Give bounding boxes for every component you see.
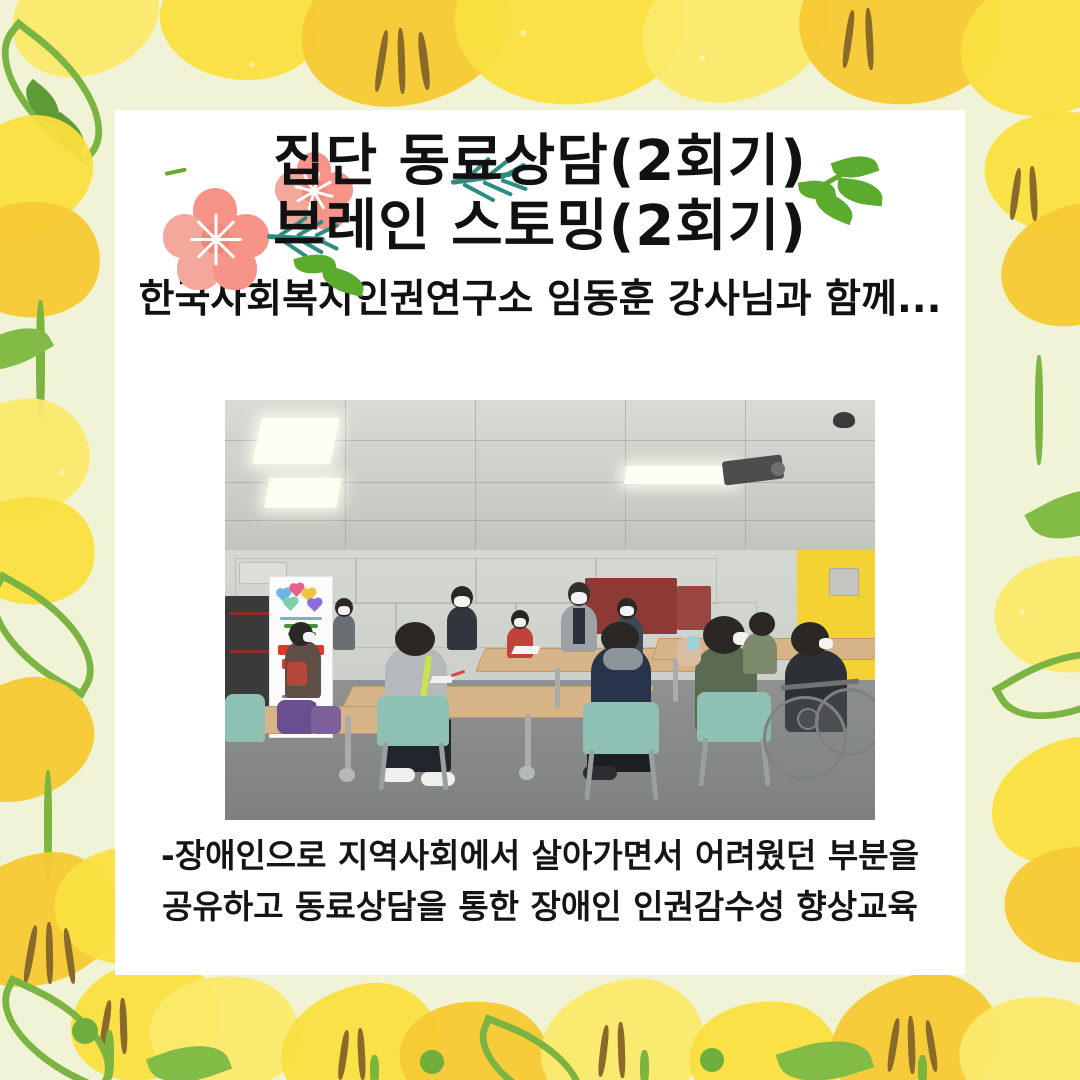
meeting-chair xyxy=(225,694,265,742)
table-leg xyxy=(345,716,351,772)
meeting-chair xyxy=(377,696,449,746)
participant xyxy=(333,614,355,650)
face-mask xyxy=(514,618,526,627)
instructor-inner-shirt xyxy=(573,608,585,644)
ceiling-light-panel xyxy=(624,466,736,484)
face-mask xyxy=(819,638,833,649)
face-mask xyxy=(620,606,634,616)
drink-cup xyxy=(687,636,699,650)
table-caster xyxy=(519,766,535,780)
paper-speck xyxy=(60,470,65,475)
face-mask xyxy=(571,592,587,604)
event-photo xyxy=(225,400,875,820)
border-stem xyxy=(1035,355,1043,465)
border-stem xyxy=(918,1055,927,1080)
heart-icon xyxy=(308,599,321,612)
participant-head xyxy=(395,622,435,656)
caption-block: -장애인으로 지역사회에서 살아가면서 어려웠던 부분을 공유하고 동료상담을 … xyxy=(115,830,965,932)
ceiling-grid-line xyxy=(475,400,476,550)
paper-speck xyxy=(1020,610,1025,615)
table-caster xyxy=(339,768,355,782)
participant-hood xyxy=(603,648,643,670)
ceiling-dome-detector xyxy=(833,412,855,428)
face-mask xyxy=(338,606,350,615)
border-bud xyxy=(72,1018,98,1044)
heart-icon xyxy=(284,598,297,611)
ceiling-grid-line xyxy=(345,400,346,550)
border-petal xyxy=(0,666,106,815)
border-bud xyxy=(420,1050,444,1074)
title-line-1: 집단 동료상담(2회기) xyxy=(115,130,965,195)
participant-scarf xyxy=(287,662,307,686)
table-leg xyxy=(525,714,531,770)
meeting-chair xyxy=(583,702,659,754)
meeting-chair xyxy=(697,692,771,742)
table-leg xyxy=(673,658,678,702)
table-leg xyxy=(555,668,560,708)
face-mask xyxy=(454,596,470,607)
paper-speck xyxy=(250,62,255,67)
border-leaf xyxy=(0,313,54,386)
title-line-2: 브레인 스토밍(2회기) xyxy=(115,195,965,260)
paper-speck xyxy=(700,55,705,60)
ceiling-light-panel xyxy=(252,418,340,464)
participant-head xyxy=(749,612,775,636)
border-leaf xyxy=(1024,471,1080,558)
border-stem xyxy=(640,1050,649,1080)
border-petal xyxy=(0,187,111,332)
border-bud xyxy=(700,1048,724,1072)
backpack xyxy=(311,706,341,734)
projector-lens xyxy=(771,462,785,476)
wheelchair-wheel xyxy=(815,688,875,756)
face-mask xyxy=(303,632,315,642)
ceiling-light-panel xyxy=(264,478,341,508)
sprig-leaf xyxy=(319,265,367,297)
border-stem xyxy=(105,1030,114,1080)
title-block: 집단 동료상담(2회기) 브레인 스토밍(2회기) 한국사회복지인권연구소 임동… xyxy=(115,130,965,324)
caption-line-1: -장애인으로 지역사회에서 살아가면서 어려웠던 부분을 xyxy=(115,830,965,881)
poster-root: 집단 동료상담(2회기) 브레인 스토밍(2회기) 한국사회복지인권연구소 임동… xyxy=(0,0,1080,1080)
caption-line-2: 공유하고 동료상담을 통한 장애인 인권감수성 향상교육 xyxy=(115,881,965,932)
participant xyxy=(447,606,477,650)
border-petal xyxy=(953,0,1080,124)
content-card: 집단 동료상담(2회기) 브레인 스토밍(2회기) 한국사회복지인권연구소 임동… xyxy=(115,110,965,975)
paper-document xyxy=(511,646,541,654)
paper-speck xyxy=(520,30,526,36)
ceiling-grid-line xyxy=(225,520,875,521)
banner-subtext xyxy=(280,617,322,620)
participant xyxy=(743,632,777,674)
participant-shoe xyxy=(381,768,415,782)
border-stem xyxy=(370,1055,379,1080)
participant-shoe xyxy=(421,772,455,786)
wall-vent xyxy=(829,568,859,596)
